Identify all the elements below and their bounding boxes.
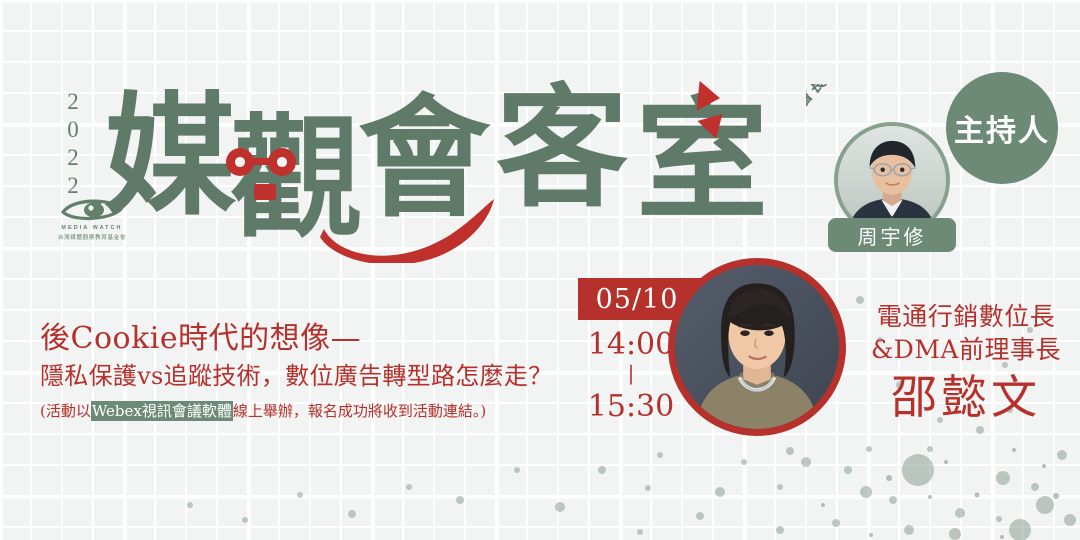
host-role-label: 主持人 bbox=[954, 106, 1050, 150]
host-block: 台灣人權促進會會長 主持人 bbox=[806, 72, 1076, 262]
red-eye-dot-left bbox=[226, 148, 254, 176]
red-eye-dot-right bbox=[268, 148, 296, 176]
topic-title-line2: 隱私保護vs追蹤技術，數位廣告轉型路怎麼走？ bbox=[40, 358, 580, 394]
topic-note: (活動以Webex視訊會議軟體線上舉辦，報名成功將收到活動連結。) bbox=[40, 399, 580, 423]
topic-block: 後Cookie時代的想像— 隱私保護vs追蹤技術，數位廣告轉型路怎麼走？ (活動… bbox=[40, 318, 580, 423]
title-char-4: 客 bbox=[496, 74, 628, 224]
host-role-badge: 主持人 bbox=[946, 72, 1058, 184]
topic-note-prefix: (活動以 bbox=[40, 402, 91, 420]
speaker-role-line2: &DMA前理事長 bbox=[866, 333, 1066, 366]
speaker-portrait-image bbox=[675, 265, 839, 429]
event-date: 05/10 bbox=[596, 284, 679, 315]
speaker-block: 電通行銷數位長 &DMA前理事長 邵懿文 bbox=[866, 300, 1066, 426]
topic-note-highlight: Webex視訊會議軟體 bbox=[91, 401, 233, 421]
red-triangle-right-icon bbox=[696, 81, 721, 113]
speaker-avatar bbox=[668, 258, 846, 436]
host-arc-text: 台灣人權促進會會長 bbox=[806, 84, 831, 232]
topic-title-line1: 後Cookie時代的想像— bbox=[40, 318, 580, 360]
poster-canvas: 2 0 2 2 MEDIA WATCH 台灣媒體觀察教育基金會 媒 觀 會 客 … bbox=[0, 0, 1080, 540]
topic-note-suffix: 線上舉辦，報名成功將收到活動連結。) bbox=[233, 402, 486, 420]
red-smile-swoosh-icon bbox=[318, 195, 508, 263]
year-digit-1: 2 bbox=[58, 88, 88, 116]
time-separator: | bbox=[578, 364, 684, 382]
year-digit-2: 0 bbox=[58, 116, 88, 144]
host-name-plate: 周宇修 bbox=[828, 218, 956, 252]
title-char-1: 媒 bbox=[104, 82, 236, 232]
speaker-role-line1: 電通行銷數位長 bbox=[866, 300, 1066, 333]
host-name: 周宇修 bbox=[858, 221, 927, 250]
speaker-name: 邵懿文 bbox=[866, 368, 1066, 426]
red-eye-bridge bbox=[252, 158, 270, 165]
year-label: 2 0 2 2 bbox=[58, 88, 88, 200]
year-digit-3: 2 bbox=[58, 144, 88, 172]
red-eye-mouth bbox=[254, 184, 276, 200]
time-end: 15:30 bbox=[578, 388, 684, 426]
